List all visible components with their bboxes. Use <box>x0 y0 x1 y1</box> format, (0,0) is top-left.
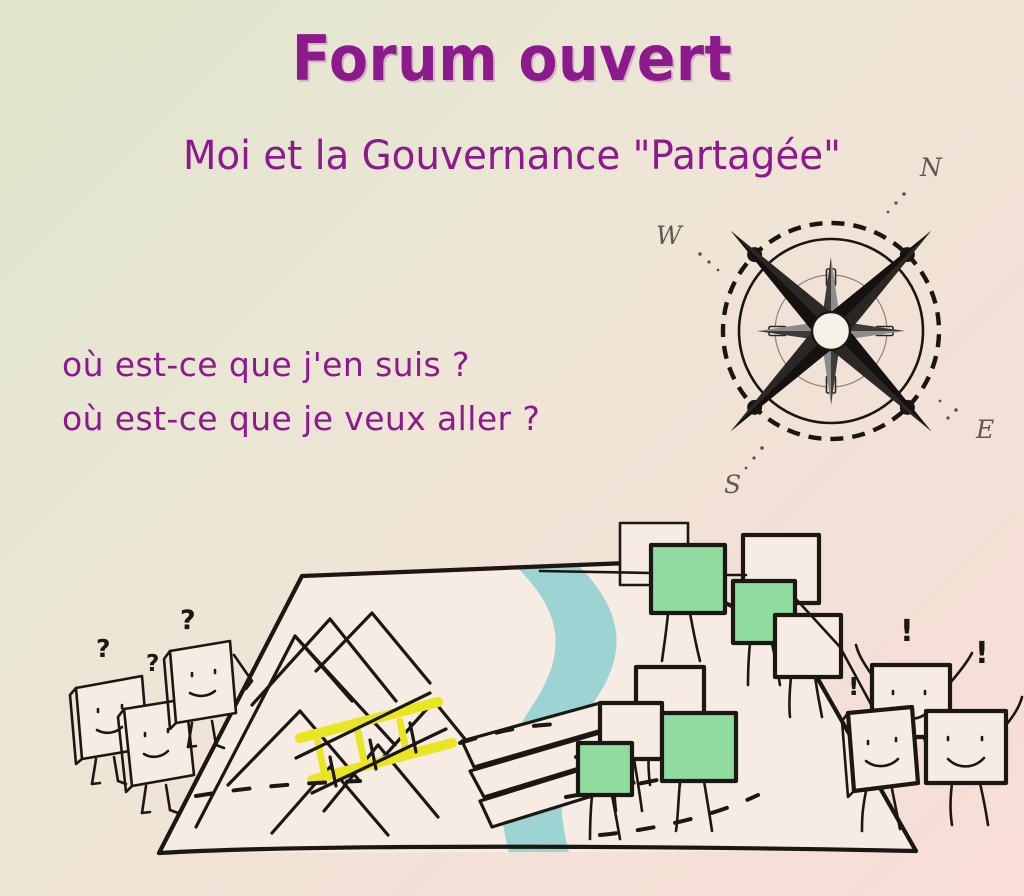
question-mark-glyph: ? <box>96 634 111 663</box>
compass-star-secondary-dark <box>748 248 914 414</box>
compass-inner-ring <box>701 201 961 461</box>
compass-letters: N W E S <box>656 153 994 499</box>
compass-star-secondary <box>748 248 914 414</box>
compass-label-east: E <box>975 415 994 444</box>
slide-canvas: Forum ouvert Moi et la Gouvernance "Part… <box>0 0 1024 896</box>
compass-dial <box>638 148 1018 518</box>
exclamation-mark-glyph: ! <box>975 636 989 671</box>
compass-leader-dots <box>698 192 958 469</box>
compass-hub <box>804 304 858 358</box>
exclamation-mark-glyph: ! <box>848 672 859 701</box>
compass-label-west: W <box>656 221 684 250</box>
page-subtitle: Moi et la Gouvernance "Partagée" <box>15 133 1008 179</box>
square-character <box>926 697 1022 825</box>
compass-rose-graphic: N W E S <box>638 148 1018 518</box>
question-line-1: où est-ce que j'en suis ? <box>62 338 540 392</box>
compass-ticks <box>743 243 918 418</box>
question-line-2: où est-ce que je veux aller ? <box>62 392 540 446</box>
compass-star-primary <box>638 148 1018 518</box>
questions-block: où est-ce que j'en suis ? où est-ce que … <box>62 338 540 446</box>
compass-tick-ring <box>752 252 910 410</box>
exclamation-mark-glyph: ! <box>900 614 914 649</box>
question-mark-glyph: ? <box>146 651 159 677</box>
compass-ring-dots <box>668 168 995 495</box>
page-title: Forum ouvert <box>41 22 983 95</box>
question-mark-glyph: ? <box>180 605 196 636</box>
island-illustration: .ink { fill:none; stroke:#1b1713; stroke… <box>0 495 1024 896</box>
compass-outer-dashed-ring <box>678 178 983 483</box>
